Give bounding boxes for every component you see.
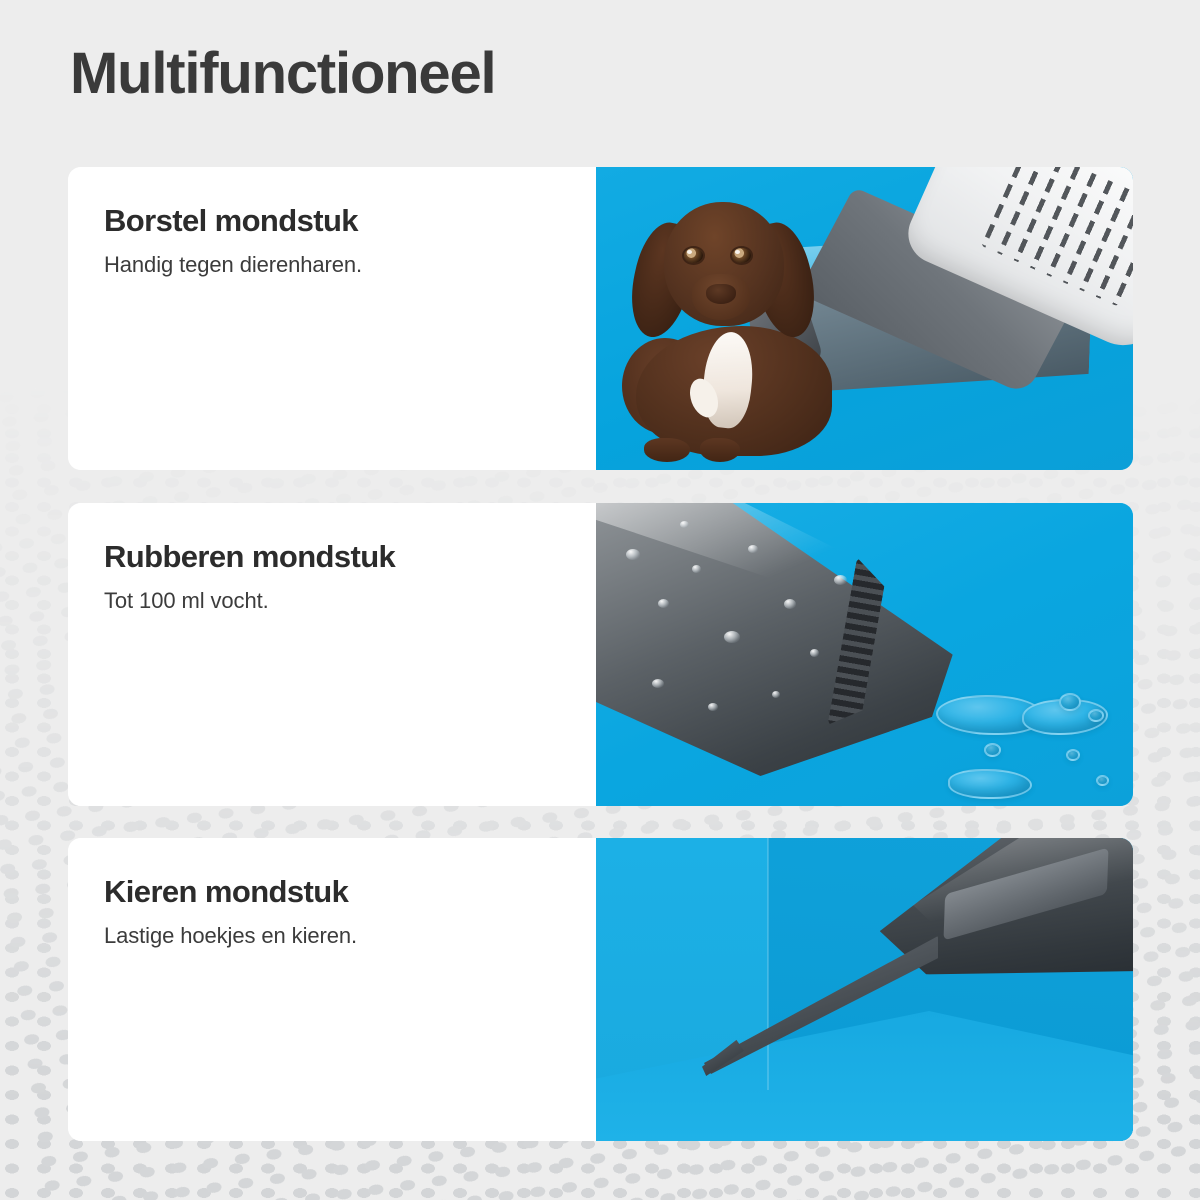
water-droplet <box>772 691 780 698</box>
water-droplet <box>724 631 740 643</box>
card-subtitle: Lastige hoekjes en kieren. <box>104 921 562 951</box>
water-droplet <box>708 703 718 711</box>
water-droplet-small <box>1088 709 1104 722</box>
card-text-block: Borstel mondstuk Handig tegen dierenhare… <box>68 167 596 470</box>
water-droplet <box>748 545 758 553</box>
water-droplet <box>692 565 701 573</box>
card-text-block: Rubberen mondstuk Tot 100 ml vocht. <box>68 503 596 806</box>
water-droplet <box>680 521 689 528</box>
puppy-illustration <box>618 196 868 464</box>
card-heading: Borstel mondstuk <box>104 201 562 241</box>
illustration-scene <box>596 167 1133 470</box>
water-puddle <box>948 769 1032 799</box>
card-heading: Rubberen mondstuk <box>104 537 562 577</box>
page-title: Multifunctioneel <box>70 40 495 108</box>
card-heading: Kieren mondstuk <box>104 872 562 912</box>
feature-card-rubberen-mondstuk: Rubberen mondstuk Tot 100 ml vocht. <box>68 503 1133 806</box>
card-subtitle: Handig tegen dierenharen. <box>104 250 562 280</box>
product-feature-page: Multifunctioneel Borstel mondstuk Handig… <box>0 0 1200 1200</box>
water-droplet <box>834 575 847 585</box>
water-droplets-on-nozzle <box>596 503 1133 806</box>
water-droplet <box>784 599 796 609</box>
water-droplet-small <box>1066 749 1080 761</box>
card-image-wet-rubber-nozzle <box>596 503 1133 806</box>
water-droplet <box>658 599 669 608</box>
illustration-scene <box>596 838 1133 1141</box>
puppy-eye-left <box>684 248 703 263</box>
water-droplet <box>626 549 640 560</box>
puppy-front-paw-left <box>644 438 690 462</box>
card-image-crevice-nozzle-in-corner <box>596 838 1133 1141</box>
card-text-block: Kieren mondstuk Lastige hoekjes en kiere… <box>68 838 596 1141</box>
corner-seam-line <box>767 838 769 1090</box>
card-image-puppy-with-brush-nozzle <box>596 167 1133 470</box>
water-droplet-small <box>1096 775 1109 786</box>
feature-card-kieren-mondstuk: Kieren mondstuk Lastige hoekjes en kiere… <box>68 838 1133 1141</box>
card-subtitle: Tot 100 ml vocht. <box>104 586 562 616</box>
water-droplet-small <box>1059 693 1081 711</box>
water-droplet <box>652 679 664 688</box>
water-droplet <box>810 649 819 657</box>
water-droplet-small <box>984 743 1001 757</box>
puppy-eye-right <box>732 248 751 263</box>
illustration-scene <box>596 503 1133 806</box>
puppy-nose <box>706 284 736 304</box>
puppy-front-paw-right <box>700 438 740 462</box>
feature-card-borstel-mondstuk: Borstel mondstuk Handig tegen dierenhare… <box>68 167 1133 470</box>
